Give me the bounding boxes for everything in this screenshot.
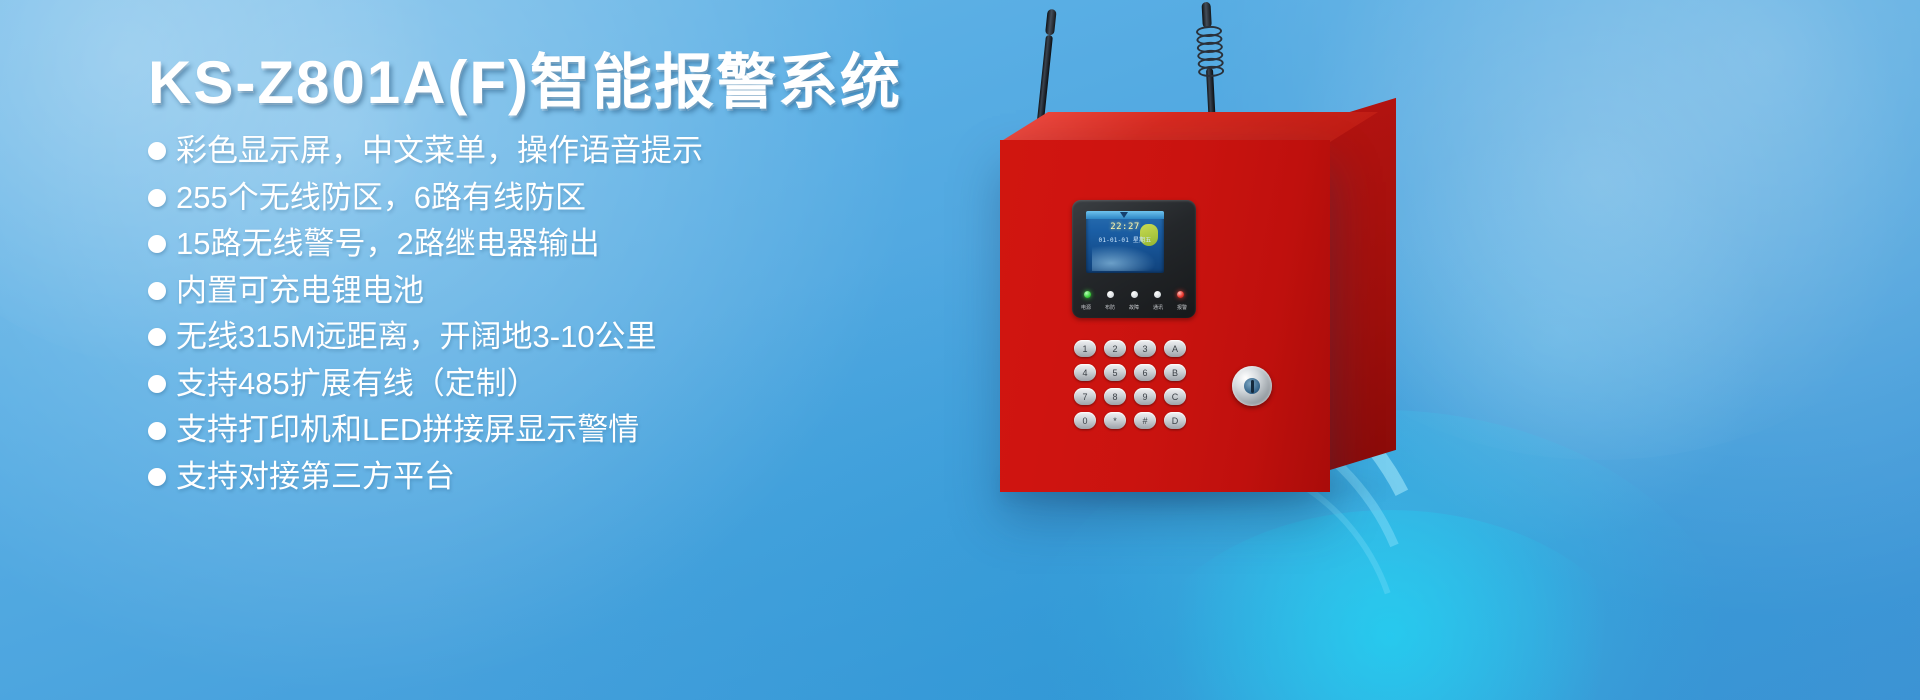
led-arm-icon	[1107, 291, 1114, 298]
lcd-date: 01-01-01 星期五	[1086, 235, 1164, 244]
key-d[interactable]: D	[1164, 412, 1186, 429]
led-alarm-icon	[1177, 291, 1184, 298]
led-label-row: 电源 布防 故障 通讯 报警	[1081, 304, 1187, 311]
bullet-dot-icon	[148, 282, 166, 300]
feature-item: 彩色显示屏，中文菜单，操作语音提示	[148, 135, 948, 168]
lcd-screen[interactable]: 22:27 01-01-01 星期五	[1086, 211, 1164, 273]
led-power-icon	[1084, 291, 1091, 298]
feature-text: 彩色显示屏，中文菜单，操作语音提示	[176, 135, 703, 168]
keypad-row: 1 2 3 A	[1074, 340, 1194, 357]
led-label: 布防	[1105, 304, 1115, 311]
bullet-dot-icon	[148, 142, 166, 160]
bullet-dot-icon	[148, 328, 166, 346]
feature-item: 内置可充电锂电池	[148, 275, 948, 308]
keypad-row: 0 * # D	[1074, 412, 1194, 429]
lock-keyhole-icon	[1251, 380, 1254, 393]
key-lock-cylinder-icon[interactable]	[1232, 366, 1272, 406]
key-1[interactable]: 1	[1074, 340, 1096, 357]
feature-text: 支持对接第三方平台	[176, 461, 455, 494]
feature-text: 支持打印机和LED拼接屏显示警情	[176, 414, 639, 447]
cabinet-top-panel	[1000, 112, 1378, 142]
feature-text: 无线315M远距离，开阔地3-10公里	[176, 321, 657, 354]
lcd-status-bar	[1086, 211, 1164, 219]
led-label: 报警	[1177, 304, 1187, 311]
key-4[interactable]: 4	[1074, 364, 1096, 381]
bullet-dot-icon	[148, 422, 166, 440]
key-5[interactable]: 5	[1104, 364, 1126, 381]
led-fault-icon	[1131, 291, 1138, 298]
product-title: KS-Z801A(F)智能报警系统	[148, 48, 948, 117]
led-indicator-row	[1084, 291, 1184, 298]
led-label: 故障	[1129, 304, 1139, 311]
key-2[interactable]: 2	[1104, 340, 1126, 357]
key-b[interactable]: B	[1164, 364, 1186, 381]
feature-text: 内置可充电锂电池	[176, 275, 424, 308]
banner-copy: KS-Z801A(F)智能报警系统 彩色显示屏，中文菜单，操作语音提示 255个…	[148, 48, 948, 507]
key-c[interactable]: C	[1164, 388, 1186, 405]
feature-text: 15路无线警号，2路继电器输出	[176, 228, 600, 261]
feature-text: 支持485扩展有线（定制）	[176, 368, 538, 401]
lcd-glow-graphic	[1092, 245, 1156, 271]
led-comm-icon	[1154, 291, 1161, 298]
cabinet-front-panel: 22:27 01-01-01 星期五 电源 布防 故障 通讯 报警	[1000, 140, 1330, 492]
lcd-time: 22:27	[1086, 222, 1164, 232]
feature-item: 无线315M远距离，开阔地3-10公里	[148, 321, 948, 354]
keypad-row: 4 5 6 B	[1074, 364, 1194, 381]
feature-list: 彩色显示屏，中文菜单，操作语音提示 255个无线防区，6路有线防区 15路无线警…	[148, 135, 948, 493]
key-7[interactable]: 7	[1074, 388, 1096, 405]
feature-item: 支持对接第三方平台	[148, 461, 948, 494]
feature-item: 255个无线防区，6路有线防区	[148, 182, 948, 215]
key-0[interactable]: 0	[1074, 412, 1096, 429]
feature-item: 15路无线警号，2路继电器输出	[148, 228, 948, 261]
key-hash[interactable]: #	[1134, 412, 1156, 429]
numeric-keypad[interactable]: 1 2 3 A 4 5 6 B 7 8 9 C 0	[1074, 340, 1194, 436]
key-8[interactable]: 8	[1104, 388, 1126, 405]
led-label: 电源	[1081, 304, 1091, 311]
bullet-dot-icon	[148, 235, 166, 253]
product-banner: KS-Z801A(F)智能报警系统 彩色显示屏，中文菜单，操作语音提示 255个…	[0, 0, 1920, 700]
bullet-dot-icon	[148, 375, 166, 393]
feature-item: 支持打印机和LED拼接屏显示警情	[148, 414, 948, 447]
keypad-row: 7 8 9 C	[1074, 388, 1194, 405]
key-9[interactable]: 9	[1134, 388, 1156, 405]
bullet-dot-icon	[148, 468, 166, 486]
key-3[interactable]: 3	[1134, 340, 1156, 357]
feature-text: 255个无线防区，6路有线防区	[176, 182, 586, 215]
display-bezel: 22:27 01-01-01 星期五 电源 布防 故障 通讯 报警	[1072, 200, 1196, 318]
key-6[interactable]: 6	[1134, 364, 1156, 381]
signal-triangle-icon	[1120, 212, 1128, 218]
key-star[interactable]: *	[1104, 412, 1126, 429]
cabinet-side-panel	[1330, 98, 1396, 470]
led-label: 通讯	[1153, 304, 1163, 311]
key-a[interactable]: A	[1164, 340, 1186, 357]
feature-item: 支持485扩展有线（定制）	[148, 368, 948, 401]
alarm-control-panel: 22:27 01-01-01 星期五 电源 布防 故障 通讯 报警	[960, 0, 1920, 700]
bullet-dot-icon	[148, 189, 166, 207]
antenna-coil-icon	[1196, 25, 1221, 78]
